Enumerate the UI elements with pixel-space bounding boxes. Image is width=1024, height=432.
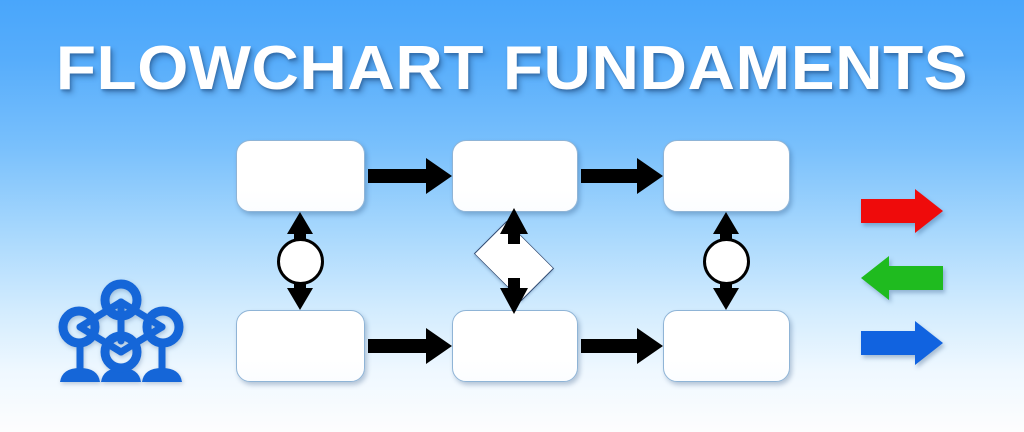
arrow-bottom-center-to-bottom-right bbox=[581, 328, 663, 364]
network-node-right bbox=[147, 311, 179, 343]
diamond-shape bbox=[474, 221, 554, 301]
legend-arrow-red[interactable] bbox=[861, 189, 943, 233]
network-node-top bbox=[105, 284, 137, 316]
arrow-top-center-to-top-right bbox=[581, 158, 663, 194]
network-node-left bbox=[63, 311, 95, 343]
flowchart-box-top-right[interactable] bbox=[663, 140, 790, 212]
flowchart-circle-left[interactable] bbox=[277, 238, 324, 285]
flowchart-box-bottom-right[interactable] bbox=[663, 310, 790, 382]
legend-arrow-blue[interactable] bbox=[861, 321, 943, 365]
legend-arrow-green[interactable] bbox=[861, 256, 943, 300]
flowchart-box-top-left[interactable] bbox=[236, 140, 365, 212]
poster-canvas: FLOWCHART FUNDAMENTS bbox=[0, 0, 1024, 432]
network-nodes-icon[interactable] bbox=[60, 284, 182, 382]
network-node-center bbox=[105, 336, 137, 368]
page-title: FLOWCHART FUNDAMENTS bbox=[0, 38, 1024, 100]
flowchart-diamond-center[interactable] bbox=[466, 230, 562, 292]
arrow-bottom-left-to-bottom-center bbox=[368, 328, 452, 364]
flowchart-circle-right[interactable] bbox=[703, 238, 750, 285]
flowchart-box-top-center[interactable] bbox=[452, 140, 578, 212]
flowchart-box-bottom-center[interactable] bbox=[452, 310, 578, 382]
flowchart-box-bottom-left[interactable] bbox=[236, 310, 365, 382]
arrow-top-left-to-top-center bbox=[368, 158, 452, 194]
